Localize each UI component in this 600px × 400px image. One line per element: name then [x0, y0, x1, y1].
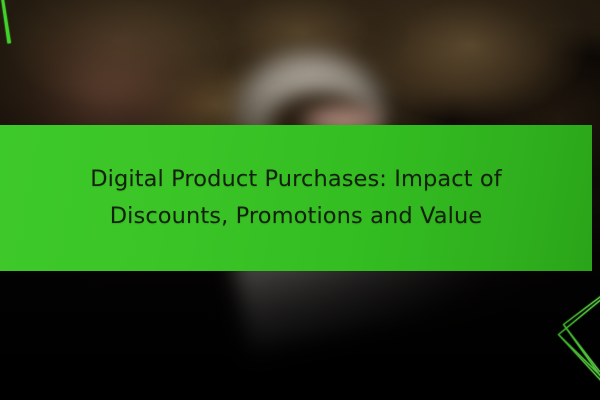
bottom-right-chevron-icon [559, 294, 600, 386]
page-title: Digital Product Purchases: Impact of Dis… [81, 161, 511, 235]
title-band: Digital Product Purchases: Impact of Dis… [0, 125, 592, 271]
title-card: Digital Product Purchases: Impact of Dis… [0, 0, 600, 400]
top-left-stroke-icon [1, 0, 11, 44]
